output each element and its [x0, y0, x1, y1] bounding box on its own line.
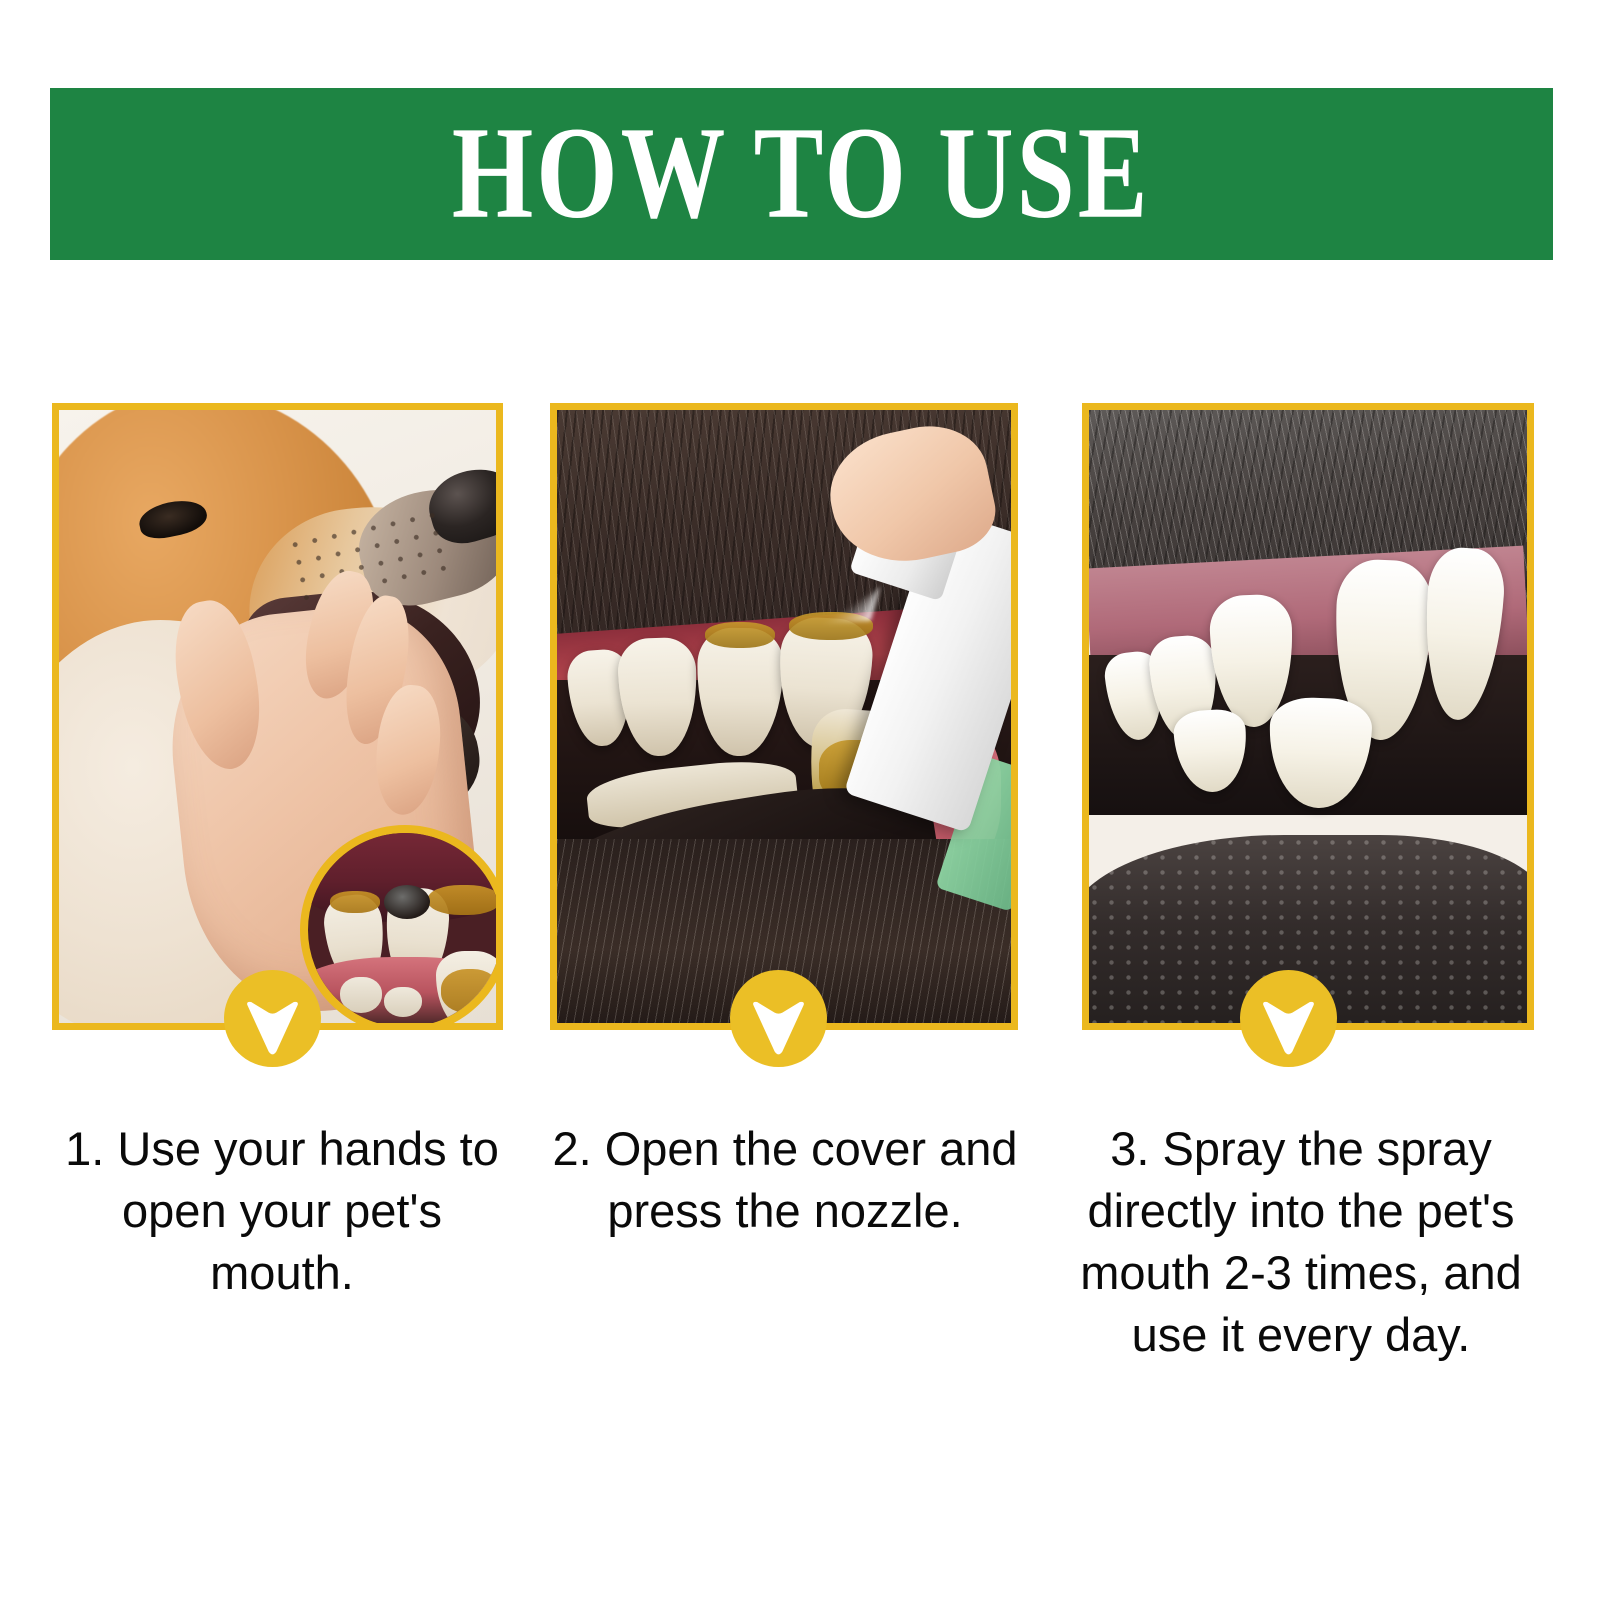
- step-2: [550, 403, 1018, 1030]
- step-1-caption: 1. Use your hands to open your pet's mou…: [52, 1118, 512, 1304]
- spray-nozzle-photo: [557, 410, 1011, 1023]
- step-3-caption: 3. Spray the spray directly into the pet…: [1060, 1118, 1542, 1366]
- step-2-caption: 2. Open the cover and press the nozzle.: [540, 1118, 1030, 1242]
- chevron-down-icon: [224, 970, 321, 1067]
- steps-container: 1. Use your hands to open your pet's mou…: [0, 0, 1600, 1600]
- step-3: [1082, 403, 1534, 1030]
- chevron-down-icon: [730, 970, 827, 1067]
- step-2-photo-frame: [550, 403, 1018, 1030]
- tartar-closeup-inset: [300, 825, 503, 1030]
- step-1-photo-frame: [52, 403, 503, 1030]
- step-1: [52, 403, 503, 1030]
- chevron-down-icon: [1240, 970, 1337, 1067]
- step-3-photo-frame: [1082, 403, 1534, 1030]
- clean-teeth-photo: [1089, 410, 1527, 1023]
